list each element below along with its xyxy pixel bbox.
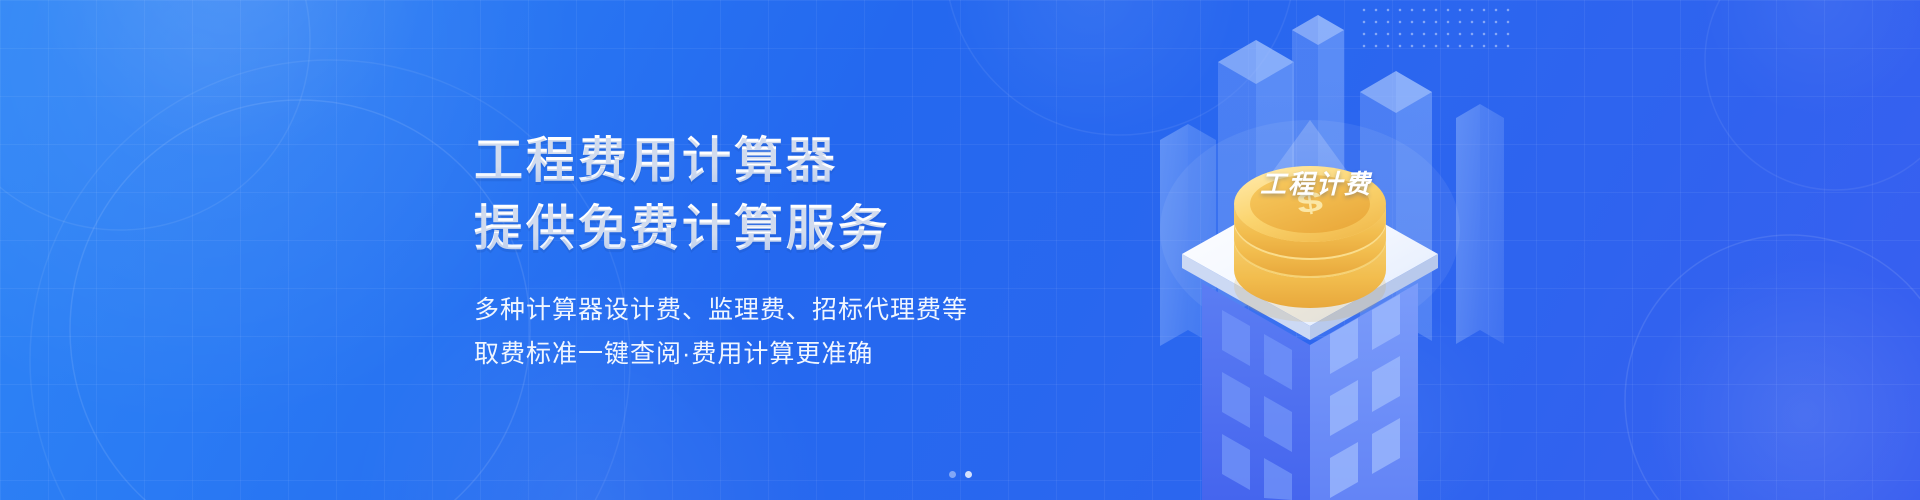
- banner-copy: 工程费用计算器 提供免费计算服务 多种计算器设计费、监理费、招标代理费等 取费标…: [474, 128, 1114, 376]
- subtitle-block: 多种计算器设计费、监理费、招标代理费等 取费标准一键查阅·费用计算更准确: [474, 288, 1114, 376]
- carousel-dot-2[interactable]: [965, 471, 972, 478]
- subtitle-line-2: 取费标准一键查阅·费用计算更准确: [474, 332, 1114, 376]
- hero-illustration: $ 工程计费: [1060, 0, 1620, 500]
- subtitle-line-1: 多种计算器设计费、监理费、招标代理费等: [474, 288, 1114, 332]
- carousel-dot-1[interactable]: [949, 471, 956, 478]
- background-glow-upper-left: [20, 0, 440, 170]
- carousel-indicators[interactable]: [0, 471, 1920, 478]
- headline-line-2: 提供免费计算服务: [474, 196, 1114, 262]
- isometric-city-illustration: $: [1060, 0, 1620, 500]
- hero-banner: 工程费用计算器 提供免费计算服务 多种计算器设计费、监理费、招标代理费等 取费标…: [0, 0, 1920, 500]
- illustration-badge: 工程计费: [1260, 164, 1372, 201]
- background-glow-right: [1640, 250, 1920, 500]
- headline-line-1: 工程费用计算器: [474, 128, 1114, 194]
- background-glow-top-right: [1700, 0, 1920, 120]
